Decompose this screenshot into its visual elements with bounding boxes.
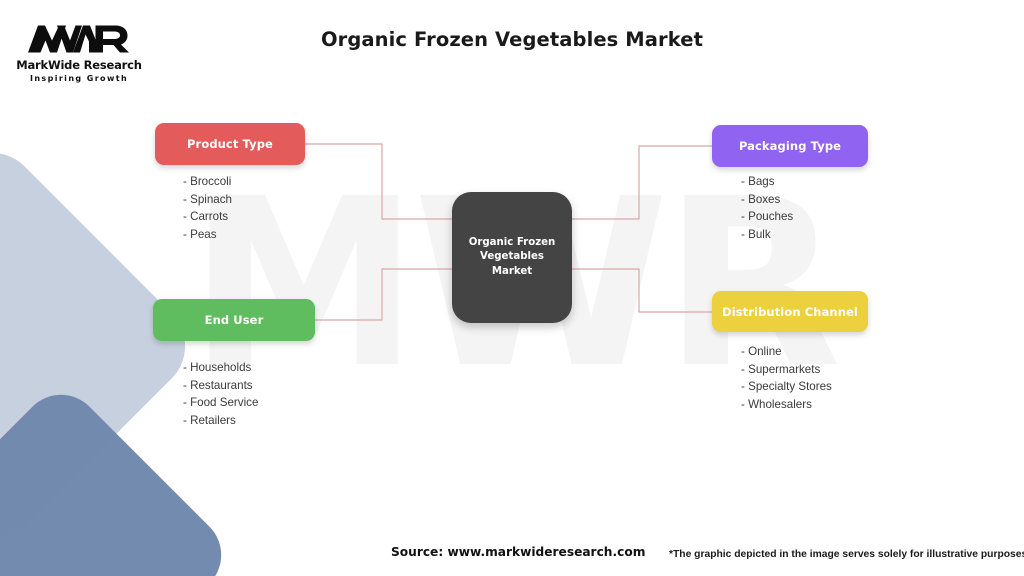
branch-label-packaging-type: Packaging Type [739,139,841,153]
branch-label-distribution-channel: Distribution Channel [722,305,858,319]
footer-disclaimer: *The graphic depicted in the image serve… [669,549,1024,560]
connector-distribution-channel [572,269,712,312]
branch-node-distribution-channel[interactable]: Distribution Channel [712,291,868,332]
list-item: - Food Service [183,394,258,412]
branch-node-packaging-type[interactable]: Packaging Type [712,125,868,167]
list-item: - Specialty Stores [741,378,832,396]
connector-end-user [315,269,452,320]
list-item: - Pouches [741,208,793,226]
footer-source: Source: www.markwideresearch.com [391,545,645,559]
list-item: - Spinach [183,191,232,209]
branch-label-product-type: Product Type [187,137,273,151]
center-node-line1: Organic Frozen [469,237,556,248]
branch-node-product-type[interactable]: Product Type [155,123,305,165]
connector-packaging-type [572,146,712,219]
branch-node-end-user[interactable]: End User [153,299,315,341]
branch-items-product-type: - Broccoli - Spinach - Carrots - Peas [183,173,232,243]
center-node-label: Organic Frozen Vegetables Market [452,236,572,279]
list-item: - Retailers [183,412,258,430]
branch-items-end-user: - Households - Restaurants - Food Servic… [183,359,258,429]
infographic-canvas: MWR MarkWide Research Inspiring Growth O… [0,0,1024,576]
list-item: - Broccoli [183,173,232,191]
list-item: - Wholesalers [741,396,832,414]
list-item: - Carrots [183,208,232,226]
list-item: - Households [183,359,258,377]
center-node-line2: Vegetables Market [480,251,544,276]
list-item: - Online [741,343,832,361]
branch-label-end-user: End User [205,313,264,327]
list-item: - Restaurants [183,377,258,395]
list-item: - Bulk [741,226,793,244]
list-item: - Bags [741,173,793,191]
list-item: - Supermarkets [741,361,832,379]
branch-items-packaging-type: - Bags - Boxes - Pouches - Bulk [741,173,793,243]
branch-items-distribution-channel: - Online - Supermarkets - Specialty Stor… [741,343,832,413]
connector-product-type [305,144,452,219]
center-node[interactable]: Organic Frozen Vegetables Market [452,192,572,323]
list-item: - Peas [183,226,232,244]
list-item: - Boxes [741,191,793,209]
